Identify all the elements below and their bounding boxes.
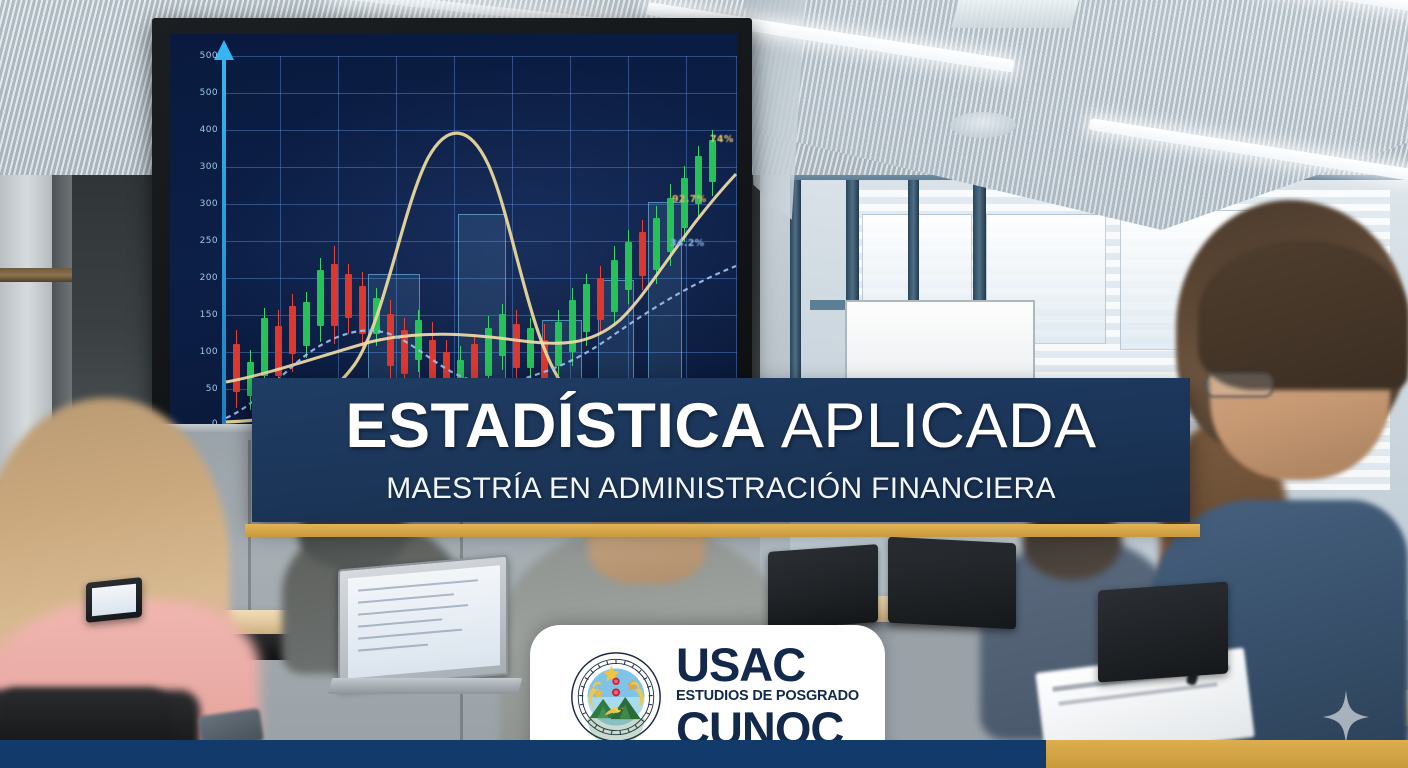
ceiling-vent-icon — [950, 112, 1016, 138]
laptop — [768, 544, 878, 630]
banner-gold-underline — [245, 524, 1200, 537]
laptop-base — [328, 678, 523, 694]
page-title: ESTADÍSTICA APLICADA — [345, 395, 1096, 458]
wood-trim — [0, 268, 72, 282]
sparkle-icon — [1323, 690, 1369, 744]
glasses-icon — [1204, 372, 1274, 398]
title-banner: ESTADÍSTICA APLICADA MAESTRÍA EN ADMINIS… — [252, 378, 1190, 522]
chart-annotation: 34.2% — [670, 238, 704, 249]
bottom-bar-navy — [0, 740, 1046, 768]
laptop-screen — [348, 565, 500, 678]
title-thin: APLICADA — [766, 391, 1096, 461]
student-hair — [1198, 240, 1408, 390]
laptop — [338, 555, 508, 690]
logo-wordmark: USAC ESTUDIOS DE POSGRADO CUNOC — [676, 641, 859, 752]
tablet-screen — [92, 584, 136, 617]
chart-annotation: 92.7% — [672, 194, 706, 205]
usac-seal-icon — [570, 651, 662, 743]
logo-usac: USAC — [676, 641, 859, 688]
page-subtitle: MAESTRÍA EN ADMINISTRACIÓN FINANCIERA — [386, 472, 1056, 506]
chart-annotation: 74% — [710, 134, 734, 145]
ceiling-projector — [951, 0, 1079, 28]
poster-canvas: 500 500 400 300 300 250 200 150 100 50 0… — [0, 0, 1408, 768]
bottom-bar-gold — [1046, 740, 1408, 768]
title-bold: ESTADÍSTICA — [345, 391, 766, 461]
laptop — [1098, 581, 1228, 682]
laptop — [888, 537, 1016, 630]
